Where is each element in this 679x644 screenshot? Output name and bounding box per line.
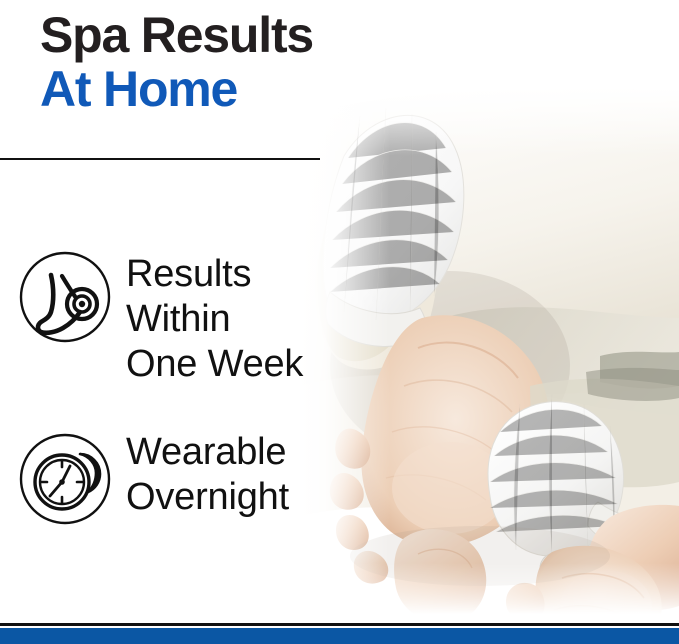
clock-moon-icon bbox=[18, 432, 112, 526]
feature-1-line-1: Results bbox=[126, 252, 303, 297]
headline: Spa Results At Home bbox=[40, 8, 510, 116]
feature-1-text: Results Within One Week bbox=[126, 250, 303, 387]
headline-line-1: Spa Results bbox=[40, 8, 510, 62]
bottom-rule bbox=[0, 623, 679, 626]
product-feature-banner: Spa Results At Home Results Within One W… bbox=[0, 0, 679, 644]
headline-divider bbox=[0, 158, 320, 160]
feature-2-line-2: Overnight bbox=[126, 475, 289, 520]
headline-line-2: At Home bbox=[40, 62, 510, 116]
feature-wearable-overnight: Wearable Overnight bbox=[18, 428, 289, 526]
feature-results-within-one-week: Results Within One Week bbox=[18, 250, 303, 387]
bottom-blue-bar bbox=[0, 628, 679, 644]
feature-2-line-1: Wearable bbox=[126, 430, 289, 475]
product-photo bbox=[300, 86, 679, 623]
foot-target-icon bbox=[18, 250, 112, 344]
feature-2-text: Wearable Overnight bbox=[126, 428, 289, 520]
feature-1-line-2: Within bbox=[126, 297, 303, 342]
feature-1-line-3: One Week bbox=[126, 342, 303, 387]
